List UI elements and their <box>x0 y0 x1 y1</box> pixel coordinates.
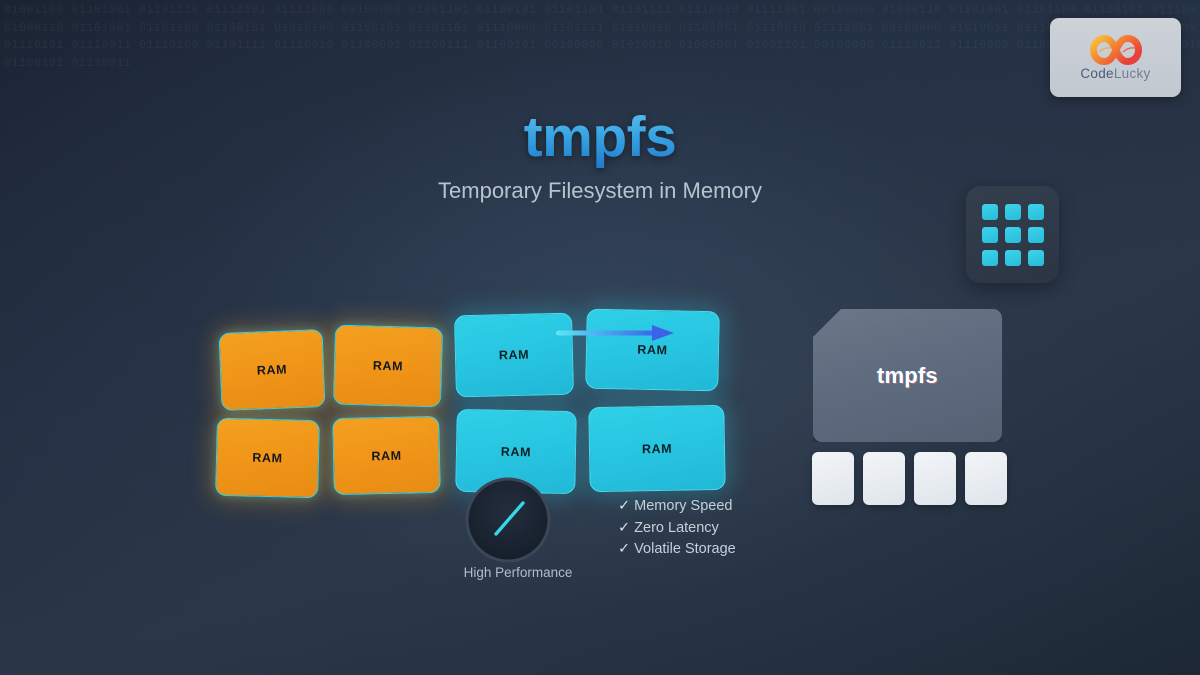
ram-block-label: RAM <box>371 448 402 463</box>
ram-block-label: RAM <box>501 444 532 459</box>
grid-cell <box>982 204 998 220</box>
ram-block: RAM <box>454 313 574 398</box>
feature-item: ✓Zero Latency <box>618 518 736 539</box>
infinity-leaf-icon <box>1090 35 1142 65</box>
grid-cell <box>982 227 998 243</box>
memory-card-label: tmpfs <box>877 363 938 389</box>
check-icon: ✓ <box>618 520 630 536</box>
feature-list: ✓Memory Speed✓Zero Latency✓Volatile Stor… <box>618 496 736 560</box>
ram-block: RAM <box>332 416 441 495</box>
ram-block: RAM <box>585 309 720 392</box>
check-icon: ✓ <box>618 541 630 557</box>
memory-card-pins <box>812 452 1007 505</box>
ram-block-label: RAM <box>642 441 673 456</box>
slide-canvas: 01001100 01101001 01101110 01110101 0111… <box>0 0 1200 675</box>
speed-gauge-icon <box>465 477 551 563</box>
brand-name: CodeLucky <box>1080 66 1150 81</box>
check-icon: ✓ <box>618 498 630 514</box>
feature-item-label: Volatile Storage <box>634 541 736 557</box>
apps-grid-icon[interactable] <box>966 186 1059 283</box>
memory-card-pin <box>965 452 1007 505</box>
ram-block-label: RAM <box>257 362 288 377</box>
binary-background-text: 01001100 01101001 01101110 01110101 0111… <box>4 2 1200 72</box>
memory-card-pin <box>863 452 905 505</box>
memory-card-pin <box>914 452 956 505</box>
brand-name-part2: Lucky <box>1114 66 1151 81</box>
memory-card-pin <box>812 452 854 505</box>
brand-badge: CodeLucky <box>1050 18 1181 97</box>
feature-item-label: Memory Speed <box>634 498 732 514</box>
gauge-label: High Performance <box>425 565 611 580</box>
grid-cell <box>1005 204 1021 220</box>
ram-block-label: RAM <box>252 451 283 466</box>
grid-cell <box>1028 227 1044 243</box>
page-title: tmpfs <box>0 104 1200 170</box>
feature-item: ✓Memory Speed <box>618 496 736 517</box>
grid-cell <box>982 250 998 266</box>
feature-item-label: Zero Latency <box>634 520 719 536</box>
grid-cell <box>1005 227 1021 243</box>
ram-block-label: RAM <box>373 359 404 374</box>
ram-block: RAM <box>215 418 320 498</box>
grid-cell <box>1005 250 1021 266</box>
ram-block: RAM <box>333 325 443 408</box>
ram-block-label: RAM <box>637 343 668 358</box>
memory-card-icon: tmpfs <box>813 309 1002 442</box>
ram-block: RAM <box>588 405 725 492</box>
brand-name-part1: Code <box>1080 66 1113 81</box>
grid-cell <box>1028 204 1044 220</box>
grid-cell <box>1028 250 1044 266</box>
ram-block: RAM <box>219 329 326 411</box>
ram-block-label: RAM <box>499 348 530 363</box>
feature-item: ✓Volatile Storage <box>618 539 736 560</box>
